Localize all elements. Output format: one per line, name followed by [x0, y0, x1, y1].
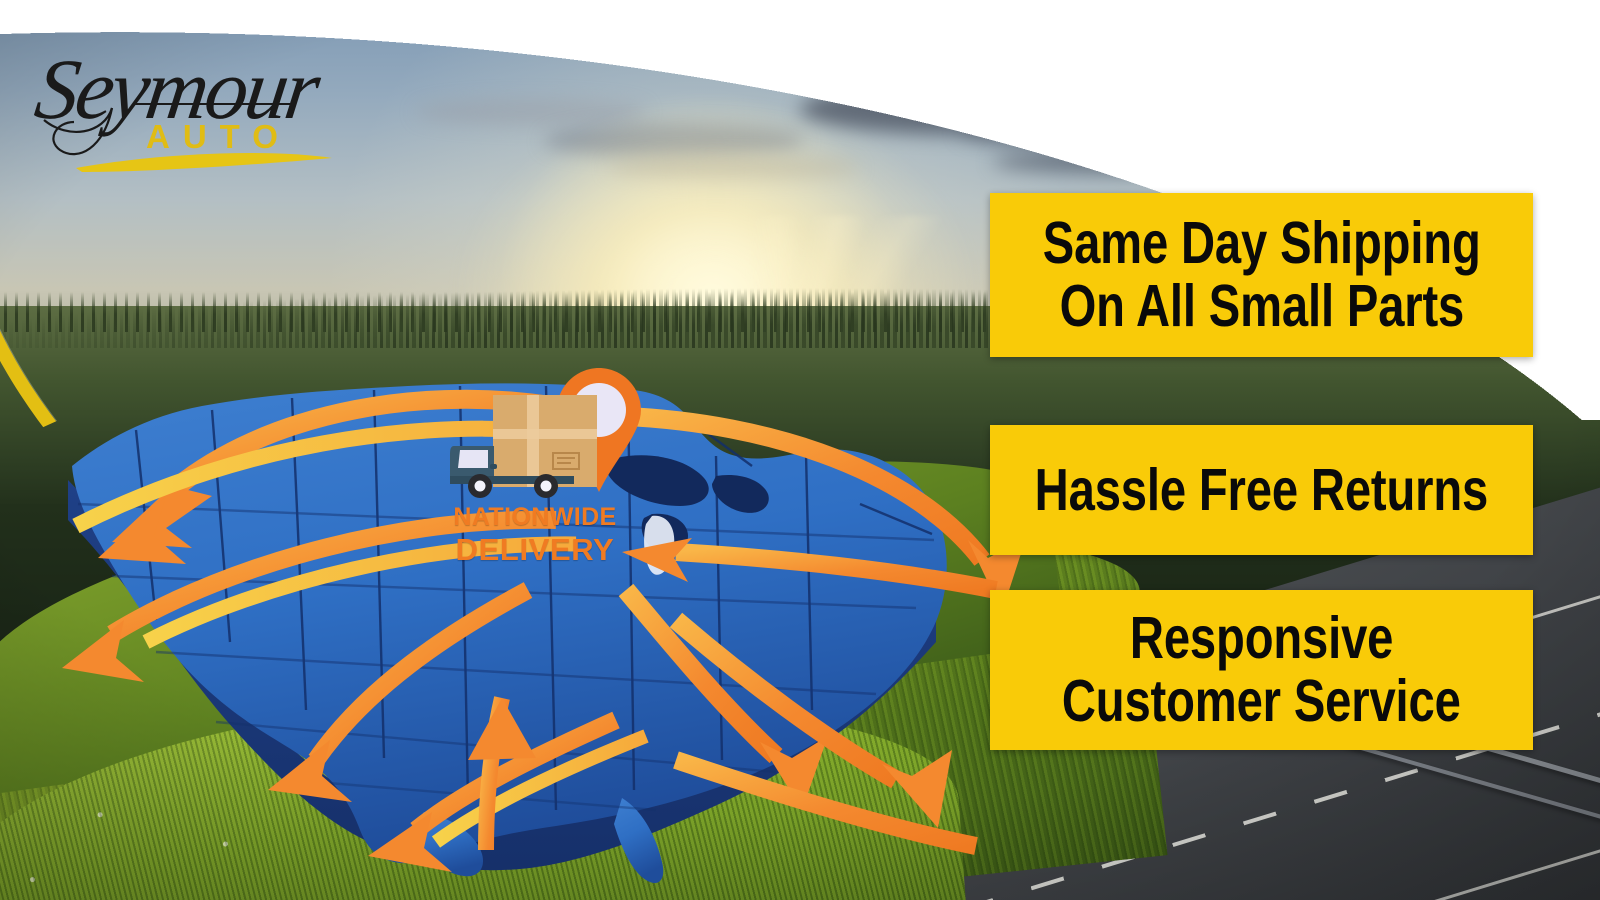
banner-line: Customer Service — [1062, 670, 1461, 733]
arrow-head — [882, 750, 952, 828]
banner-line: Same Day Shipping — [1043, 212, 1481, 275]
seymour-auto-logo[interactable]: Seymour AUTO — [34, 22, 334, 172]
banner-line: On All Small Parts — [1059, 275, 1464, 338]
caption-line-1: NATIONWIDE — [430, 505, 640, 530]
banner-line: Responsive — [1130, 607, 1393, 670]
logo-swoosh — [76, 153, 332, 172]
caption-line-2: DELIVERY — [430, 534, 640, 565]
banner-line: Hassle Free Returns — [1035, 459, 1488, 522]
banner-responsive-customer-service[interactable]: Responsive Customer Service — [990, 590, 1533, 750]
nationwide-delivery-caption: NATIONWIDE DELIVERY — [430, 505, 640, 565]
banner-same-day-shipping[interactable]: Same Day Shipping On All Small Parts — [990, 193, 1533, 357]
banner-hassle-free-returns[interactable]: Hassle Free Returns — [990, 425, 1533, 555]
delivery-truck-icon — [450, 420, 600, 500]
wildflower — [30, 877, 35, 882]
promo-banner-stage: NATIONWIDE DELIVERY Seymour AUTO Same Da… — [0, 0, 1600, 900]
logo-auto-text: AUTO — [146, 118, 291, 155]
